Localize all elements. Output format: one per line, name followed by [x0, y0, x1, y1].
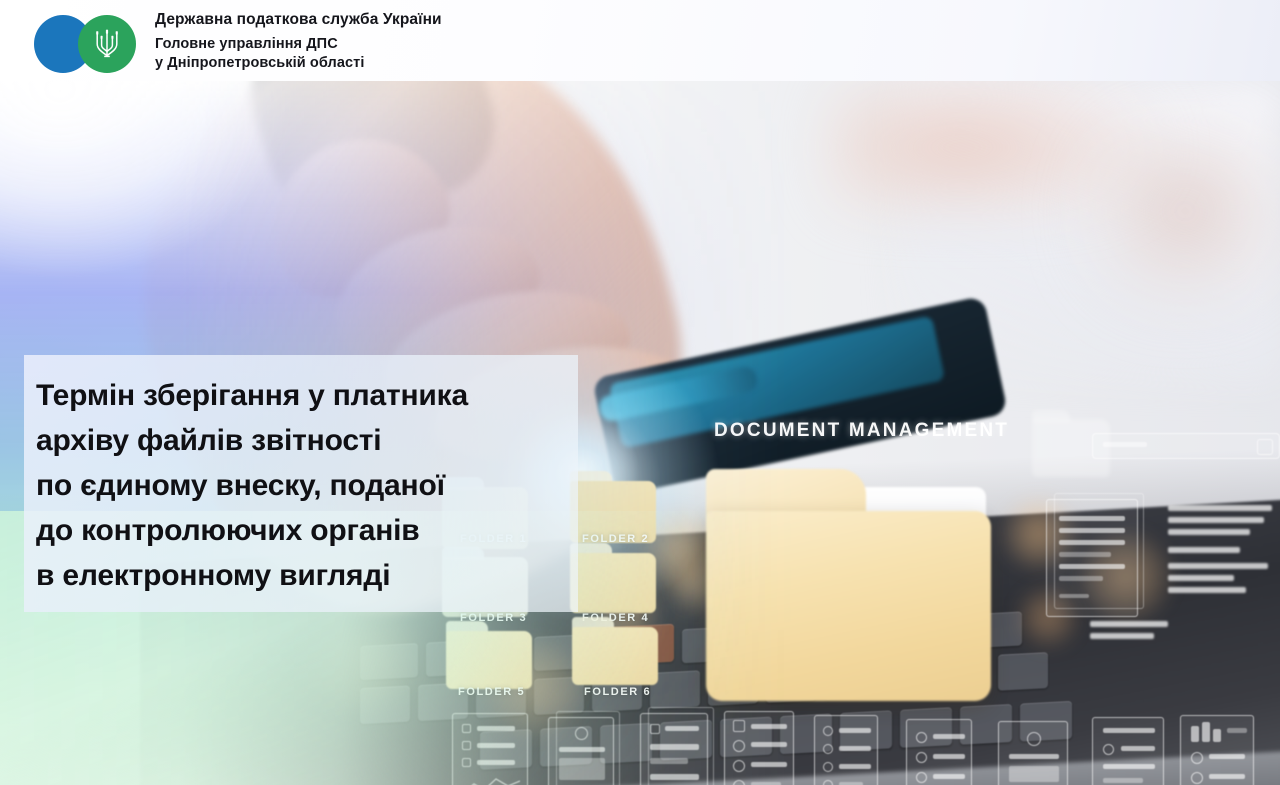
- site-header: Державна податкова служба України Головн…: [0, 0, 1280, 81]
- folder-6: [572, 617, 658, 685]
- search-placeholder-bar: [1103, 442, 1147, 447]
- headline-line-2: архіву файлів звітності: [36, 418, 562, 463]
- hud-metrics-card: [1180, 715, 1254, 785]
- primary-folder-icon: [706, 469, 991, 701]
- ukrainian-trident-icon: [94, 27, 120, 61]
- headline-line-1: Термін зберігання у платника: [36, 373, 562, 418]
- hud-checklist-card: [452, 713, 528, 785]
- hud-form-card: [548, 717, 614, 785]
- organisation-logo[interactable]: [30, 11, 175, 71]
- headline-line-3: по єдиному внеску, поданої: [36, 463, 562, 508]
- folder-5: [446, 621, 532, 689]
- logo-green-circle-icon: [78, 15, 136, 73]
- folder-body: [706, 511, 991, 701]
- org-title-line-1: Державна податкова служба України: [155, 9, 442, 31]
- hud-list-card: [814, 715, 878, 785]
- folder-4: [570, 543, 656, 613]
- headline-line-4: до контролюючих органів: [36, 508, 562, 553]
- poster-page: Державна податкова служба України Головн…: [0, 0, 1280, 785]
- org-title-line-3: у Дніпропетровській області: [155, 54, 442, 73]
- hud-settings-card: [724, 711, 794, 785]
- folder-5-label: FOLDER 5: [458, 686, 525, 698]
- headline-line-5: в електронному вигляді: [36, 553, 562, 598]
- search-submit-icon[interactable]: [1257, 439, 1273, 455]
- hud-document-stack: [1046, 499, 1138, 617]
- headline-panel: Термін зберігання у платника архіву файл…: [24, 355, 578, 612]
- folder-tab: [706, 469, 866, 515]
- organisation-name-block: Державна податкова служба України Головн…: [155, 9, 442, 73]
- org-title-line-2: Головне управління ДПС: [155, 35, 442, 54]
- hud-record-card: [640, 713, 708, 785]
- hud-config-card: [906, 719, 972, 785]
- hud-search-field[interactable]: [1092, 433, 1280, 459]
- document-management-label: DOCUMENT MANAGEMENT: [714, 420, 1009, 442]
- banner-image: DOCUMENT MANAGEMENT FOLDER 1 FOLDER 2 FO…: [0, 81, 1280, 785]
- hud-text-block: [1090, 621, 1176, 645]
- trend-line-icon: [462, 776, 520, 785]
- hud-upload-card: [998, 721, 1068, 785]
- hud-chart-card: [1092, 717, 1164, 785]
- folder-6-label: FOLDER 6: [584, 686, 651, 698]
- hud-text-block: [1168, 505, 1272, 599]
